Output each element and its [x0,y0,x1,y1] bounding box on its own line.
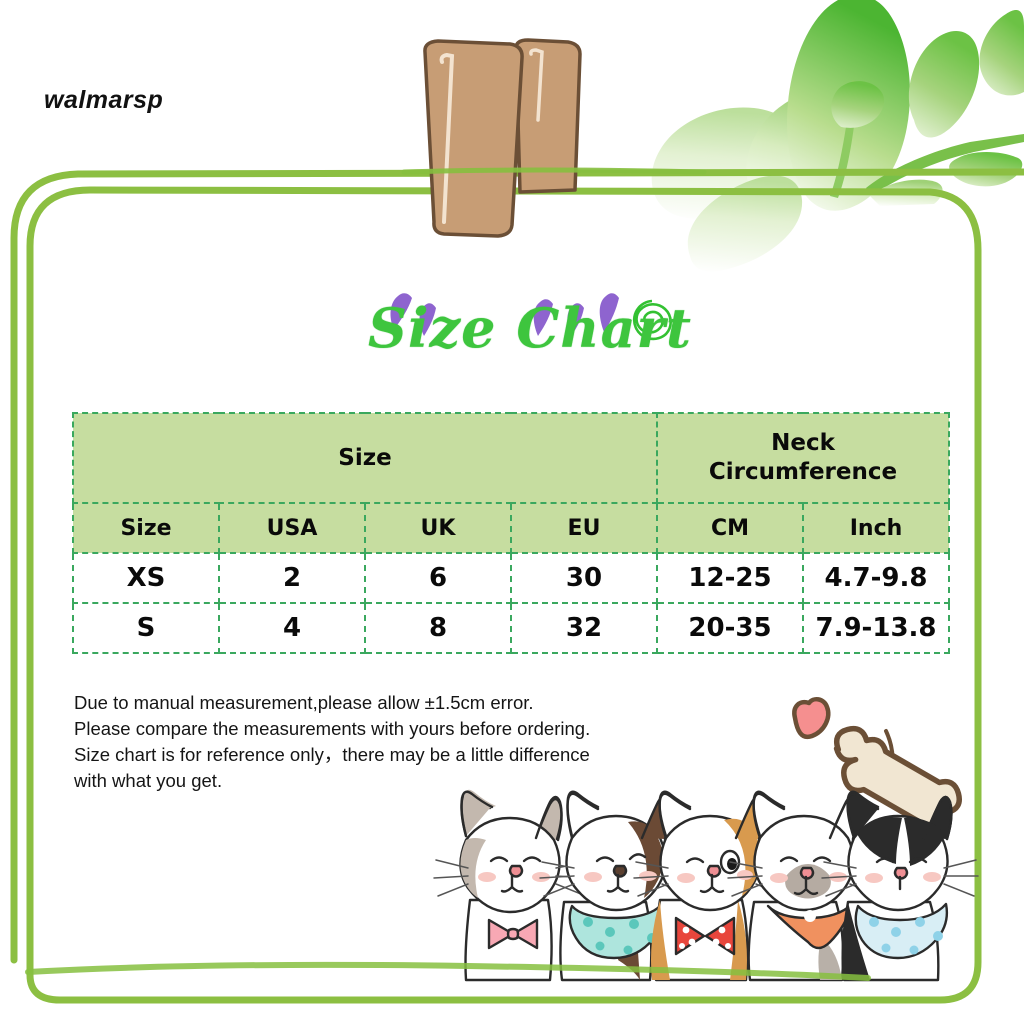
table-row: S 4 8 32 20-35 7.9-13.8 [73,603,949,653]
group-header-size: Size [73,413,657,503]
column-header-cm: CM [657,503,803,553]
cat-5 [822,792,978,980]
note-line-4: with what you get. [74,768,694,794]
table-group-header-row: Size Neck Circumference [73,413,949,503]
cell-usa: 4 [219,603,365,653]
cell-usa: 2 [219,553,365,603]
measurement-note: Due to manual measurement,please allow ±… [74,690,694,794]
brand-logo: walmarsp [44,86,163,115]
cat-2 [540,792,696,980]
title-label: Size Chart [368,296,692,360]
group-header-neck-circumference: Neck Circumference [657,413,949,503]
pink-heart-icon [794,699,828,737]
column-header-size: Size [73,503,219,553]
note-line-1: Due to manual measurement,please allow ±… [74,690,694,716]
cat-3 [634,792,790,980]
cell-inch: 4.7-9.8 [803,553,949,603]
group-header-neck-line1: Neck [658,429,948,458]
cell-uk: 6 [365,553,511,603]
cell-uk: 8 [365,603,511,653]
size-chart-table: Size Neck Circumference Size USA UK EU C… [72,412,950,654]
note-line-2: Please compare the measurements with you… [74,716,694,742]
cat-4 [728,792,884,980]
cell-size: XS [73,553,219,603]
motion-lines-icon [862,731,893,784]
table-column-header-row: Size USA UK EU CM Inch [73,503,949,553]
cell-cm: 20-35 [657,603,803,653]
column-header-eu: EU [511,503,657,553]
page-title: Size Chart [368,288,688,368]
size-chart-image: Size Chart Size Neck Circumference Size … [0,0,1024,1024]
cell-inch: 7.9-13.8 [803,603,949,653]
cell-cm: 12-25 [657,553,803,603]
cell-size: S [73,603,219,653]
column-header-usa: USA [219,503,365,553]
cat-1 [434,790,590,980]
dog-bone-icon [818,722,965,839]
cell-eu: 30 [511,553,657,603]
column-header-inch: Inch [803,503,949,553]
group-header-neck-line2: Circumference [658,458,948,487]
table-row: XS 2 6 30 12-25 4.7-9.8 [73,553,949,603]
cell-eu: 32 [511,603,657,653]
note-line-3: Size chart is for reference only，there m… [74,742,694,768]
column-header-uk: UK [365,503,511,553]
